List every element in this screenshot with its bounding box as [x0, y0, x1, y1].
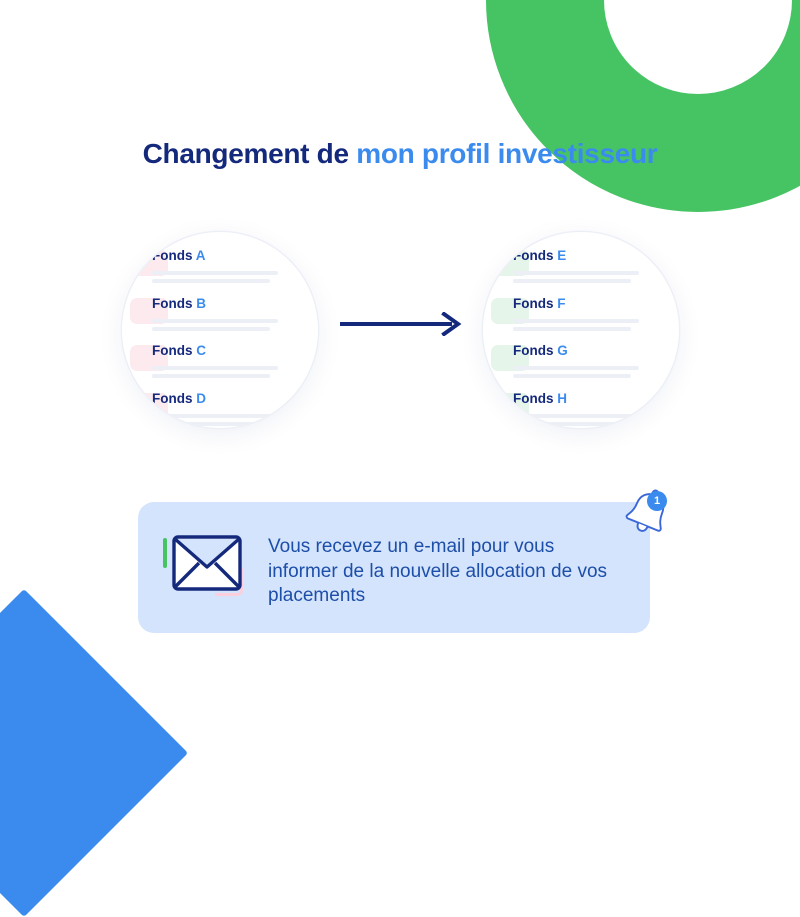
list-item[interactable]: Fonds G [483, 341, 679, 389]
fund-label-letter: A [196, 248, 206, 263]
fund-label-letter: F [557, 296, 565, 311]
list-item[interactable]: Fonds D [122, 389, 318, 429]
fund-placeholder-bar [513, 374, 631, 378]
list-item[interactable]: Fonds F [483, 294, 679, 342]
fund-label-prefix: Fonds [152, 391, 196, 406]
fund-label: Fonds H [513, 389, 679, 407]
fund-label-prefix: Fonds [513, 296, 557, 311]
list-item[interactable]: Fonds C [122, 341, 318, 389]
fund-label: Fonds B [152, 294, 318, 312]
fund-placeholder-bar [152, 319, 278, 323]
fund-label-prefix: Fonds [513, 343, 557, 358]
list-item[interactable]: Fonds B [122, 294, 318, 342]
fund-label-letter: D [196, 391, 206, 406]
fund-label-letter: B [196, 296, 206, 311]
fund-placeholder-bar [152, 271, 278, 275]
fund-placeholder-bar [152, 366, 278, 370]
fund-placeholder-bar [513, 319, 639, 323]
fund-list-before: Fonds A Fonds B Fonds C Fonds D [122, 246, 318, 428]
list-item[interactable]: Fonds H [483, 389, 679, 429]
list-item[interactable]: Fonds A [122, 246, 318, 294]
green-arc-decoration [486, 0, 800, 212]
fund-label-letter: G [557, 343, 568, 358]
new-allocation-panel: Fonds E Fonds F Fonds G Fonds H [483, 232, 679, 428]
fund-label: Fonds D [152, 389, 318, 407]
fund-placeholder-bar [513, 271, 639, 275]
fund-placeholder-bar [513, 327, 631, 331]
banner-message: Vous recevez un e-mail pour vous informe… [268, 535, 628, 609]
fund-label-prefix: Fonds [513, 391, 557, 406]
fund-label: Fonds A [152, 246, 318, 264]
fund-placeholder-bar [513, 414, 639, 418]
fund-label-prefix: Fonds [152, 296, 196, 311]
fund-placeholder-bar [152, 327, 270, 331]
fund-placeholder-bar [152, 279, 270, 283]
current-allocation-panel: Fonds A Fonds B Fonds C Fonds D [122, 232, 318, 428]
fund-label-prefix: Fonds [152, 343, 196, 358]
email-notification-banner: Vous recevez un e-mail pour vous informe… [138, 502, 650, 633]
fund-label-letter: E [557, 248, 566, 263]
fund-placeholder-bar [513, 422, 631, 426]
fund-placeholder-bar [152, 374, 270, 378]
fund-label: Fonds C [152, 341, 318, 359]
fund-placeholder-bar [513, 279, 631, 283]
fund-label: Fonds G [513, 341, 679, 359]
bell-icon[interactable]: 1 [620, 484, 676, 540]
fund-label-letter: C [196, 343, 206, 358]
fund-list-after: Fonds E Fonds F Fonds G Fonds H [483, 246, 679, 428]
fund-label-letter: H [557, 391, 567, 406]
page-title-accent: mon profil investisseur [356, 138, 657, 169]
fund-placeholder-bar [513, 366, 639, 370]
arrow-right-icon [340, 312, 462, 336]
fund-label-prefix: Fonds [152, 248, 196, 263]
fund-label: Fonds E [513, 246, 679, 264]
page-title-primary: Changement de [143, 138, 357, 169]
fund-label-prefix: Fonds [513, 248, 557, 263]
notification-count-badge: 1 [647, 491, 667, 511]
blue-diamond-decoration [0, 589, 188, 917]
fund-placeholder-bar [152, 414, 278, 418]
green-accent-bar [163, 538, 167, 568]
fund-placeholder-bar [152, 422, 270, 426]
page-title: Changement de mon profil investisseur [0, 138, 800, 170]
fund-label: Fonds F [513, 294, 679, 312]
list-item[interactable]: Fonds E [483, 246, 679, 294]
envelope-icon [163, 530, 251, 602]
